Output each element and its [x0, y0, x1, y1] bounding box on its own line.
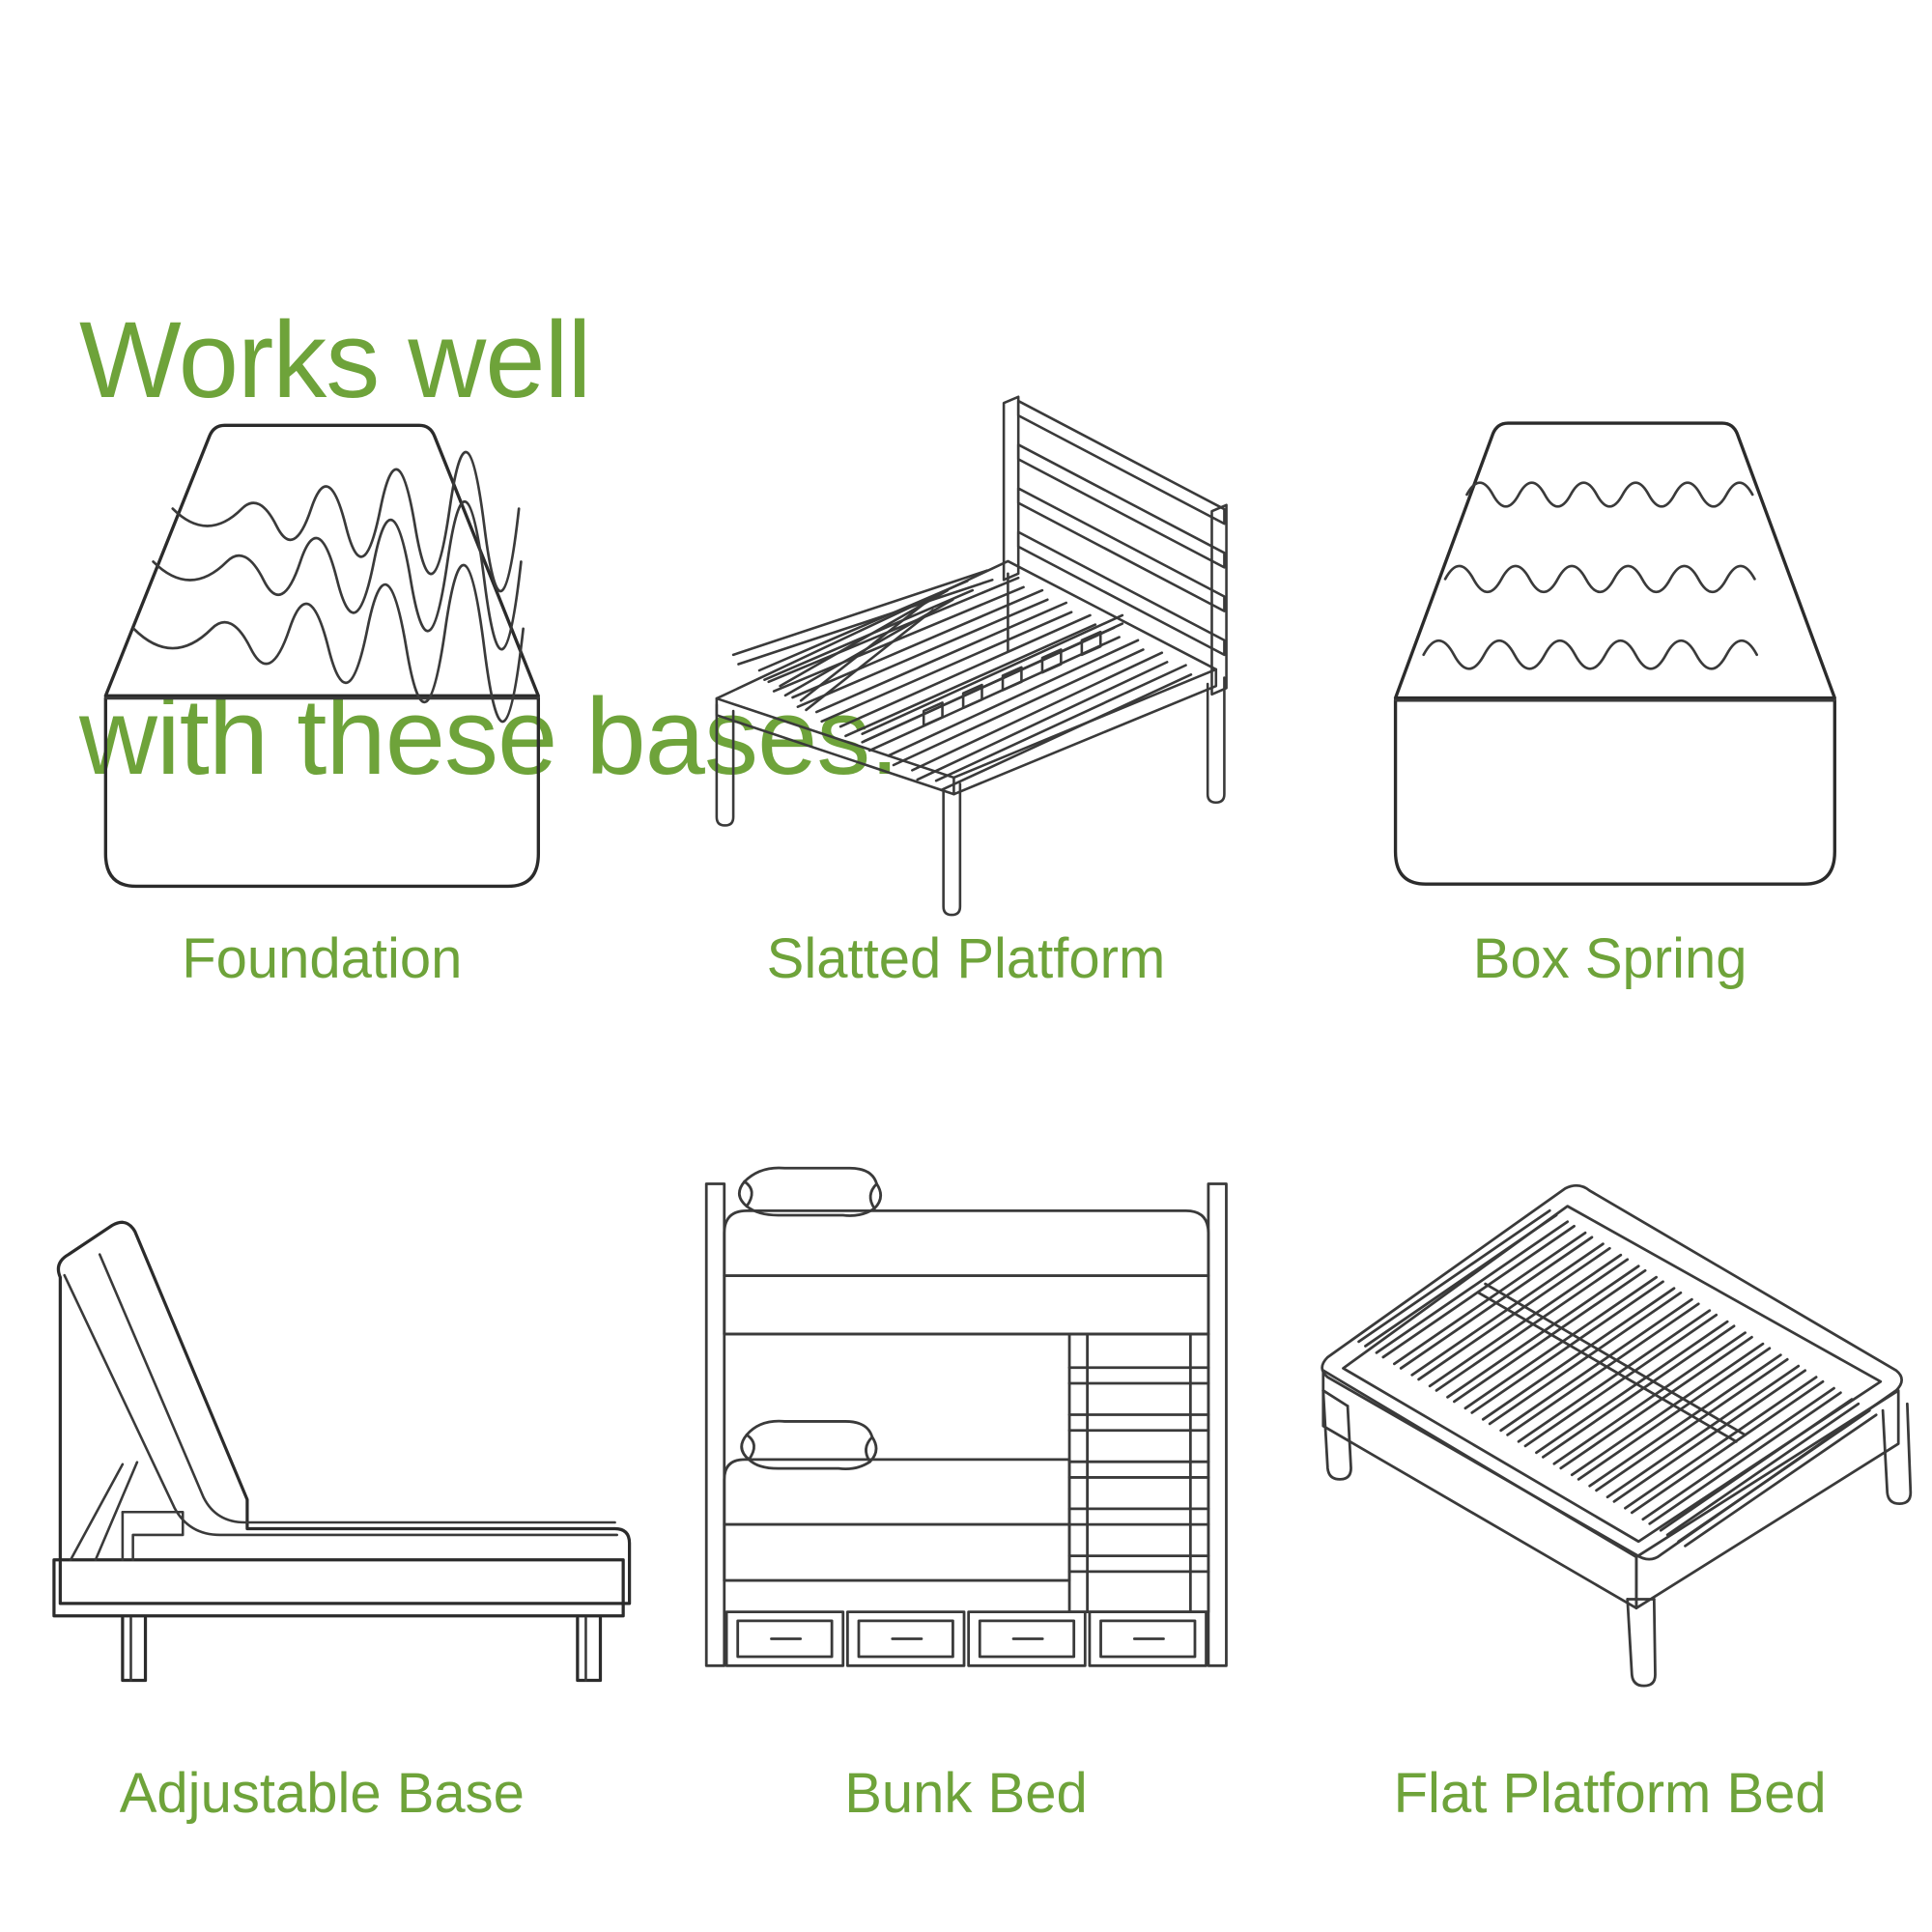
- adjustable-base-icon: [0, 1159, 644, 1719]
- base-card-slatted-platform[interactable]: Slatted Platform: [644, 386, 1289, 1159]
- base-label-box-spring: Box Spring: [1473, 931, 1747, 987]
- bunk-bed-icon: [644, 1159, 1289, 1719]
- foundation-illustration: [0, 386, 644, 927]
- base-card-box-spring[interactable]: Box Spring: [1288, 386, 1932, 1159]
- slatted-platform-bed-icon: [644, 386, 1289, 927]
- base-card-bunk-bed[interactable]: Bunk Bed: [644, 1159, 1289, 1932]
- base-card-foundation[interactable]: Foundation: [0, 386, 644, 1159]
- base-label-adjustable-base: Adjustable Base: [120, 1766, 525, 1822]
- bunk-bed-illustration: [644, 1159, 1289, 1719]
- flat-platform-bed-icon: [1288, 1159, 1932, 1719]
- foundation-mattress-icon: [0, 386, 644, 927]
- base-card-adjustable-base[interactable]: Adjustable Base: [0, 1159, 644, 1932]
- bases-grid: Foundation: [0, 386, 1932, 1932]
- slatted-platform-illustration: [644, 386, 1289, 927]
- adjustable-base-illustration: [0, 1159, 644, 1719]
- base-label-foundation: Foundation: [182, 931, 462, 987]
- box-spring-mattress-icon: [1288, 386, 1932, 927]
- flat-platform-bed-illustration: [1288, 1159, 1932, 1719]
- box-spring-illustration: [1288, 386, 1932, 927]
- base-label-flat-platform-bed: Flat Platform Bed: [1394, 1766, 1827, 1822]
- base-label-bunk-bed: Bunk Bed: [844, 1766, 1088, 1822]
- base-label-slatted-platform: Slatted Platform: [767, 931, 1166, 987]
- base-card-flat-platform-bed[interactable]: Flat Platform Bed: [1288, 1159, 1932, 1932]
